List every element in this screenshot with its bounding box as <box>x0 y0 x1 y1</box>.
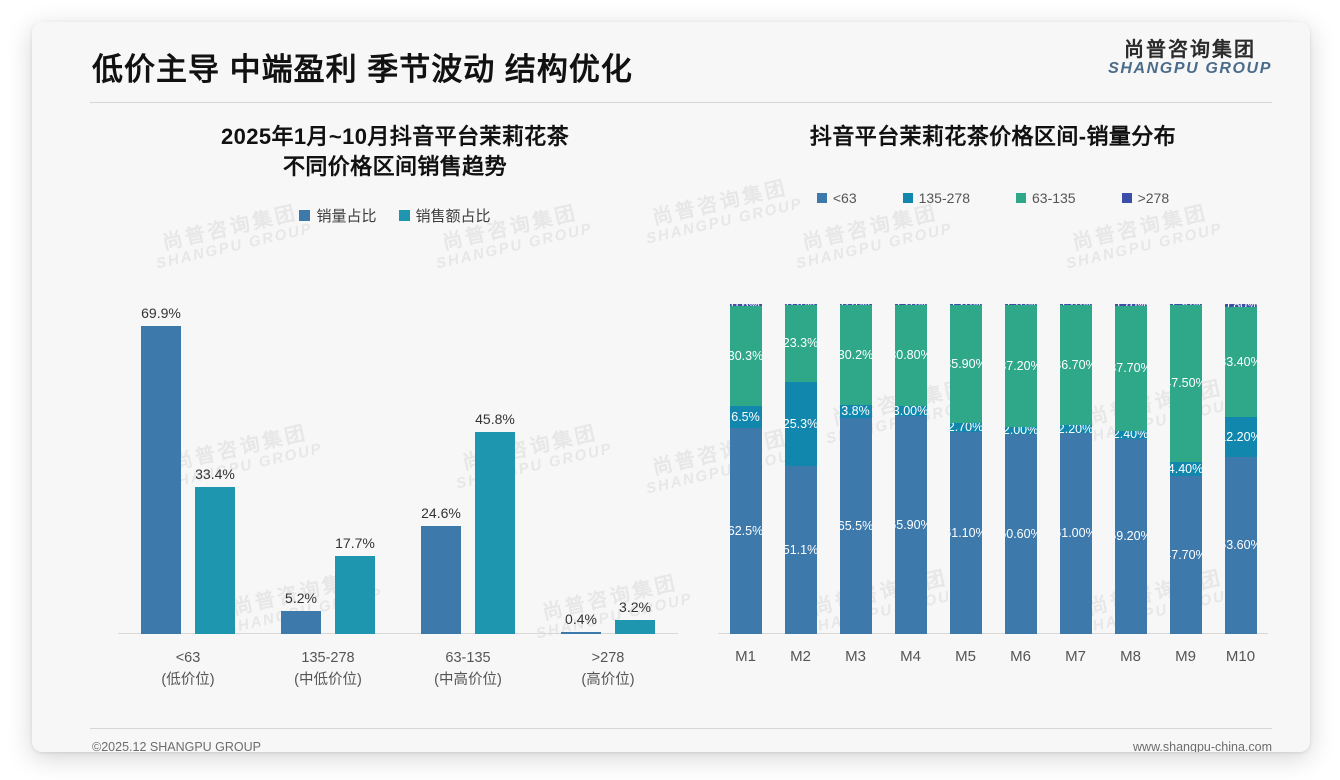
stack-segment-value-label: 30.2% <box>840 349 872 362</box>
stack-segment-clip: 65.90% <box>895 416 927 634</box>
stack-segment-value-label: 65.90% <box>895 519 927 532</box>
bar-group->278: 0.4%3.2% <box>538 304 678 634</box>
slide-card: 低价主导 中端盈利 季节波动 结构优化 尚普咨询集团 SHANGPU GROUP… <box>32 22 1310 752</box>
stack-segment-M3-135-278[interactable]: 3.8% <box>840 405 872 418</box>
x-axis-label-M7: M7 <box>1053 648 1099 665</box>
stack-segment-clip: 4.40% <box>1170 462 1202 477</box>
stack-segment-clip: 30.2% <box>840 305 872 405</box>
stack-segment-M3-<63[interactable]: 65.5% <box>840 418 872 634</box>
stack-segment-M4-63-135[interactable]: 30.80% <box>895 305 927 407</box>
stack-segment-clip: 60.60% <box>1005 434 1037 634</box>
stack-segment-value-label: 0.80% <box>1225 304 1257 307</box>
stack-segment-clip: 3.00% <box>895 406 927 416</box>
legend-label: 销售额占比 <box>416 205 491 226</box>
stack-segment-clip: 62.5% <box>730 428 762 634</box>
stack-segment-clip: 51.1% <box>785 466 817 634</box>
bar-fill <box>335 556 375 634</box>
bar-<63-销量占比[interactable]: 69.9% <box>141 326 181 634</box>
bar-value-label: 45.8% <box>475 411 515 427</box>
logo-chinese-text: 尚普咨询集团 <box>1108 40 1272 61</box>
stack-segment-value-label: 23.3% <box>785 337 817 350</box>
x-axis-label-63-135: 63-135(中高价位) <box>398 648 538 692</box>
stack-segment-M1-<63[interactable]: 62.5% <box>730 428 762 634</box>
legend-swatch-icon <box>1016 193 1026 203</box>
x-axis-label-main: <63 <box>118 648 258 670</box>
stack-segment-clip: 37.20% <box>1005 304 1037 427</box>
stack-segment-M5-63-135[interactable]: 35.90% <box>950 305 982 424</box>
logo-english-text: SHANGPU GROUP <box>1108 61 1272 78</box>
stack-segment-clip: 65.5% <box>840 418 872 634</box>
x-axis-label-M3: M3 <box>833 648 879 665</box>
stack-segment-clip: 2.70% <box>950 423 982 432</box>
stack-segment-M7-135-278[interactable]: 2.20% <box>1060 425 1092 432</box>
chart-legend-left: 销量占比销售额占比 <box>90 205 700 226</box>
footer-copyright: ©2025.12 SHANGPU GROUP <box>92 740 261 752</box>
legend-label: <63 <box>833 190 857 206</box>
plot-area-left: 69.9%33.4%5.2%17.7%24.6%45.8%0.4%3.2% <box>118 304 678 634</box>
stack-segment-M8-<63[interactable]: 59.20% <box>1115 439 1147 634</box>
stack-segment-M5-135-278[interactable]: 2.70% <box>950 423 982 432</box>
x-axis-label-M2: M2 <box>778 648 824 665</box>
stack-segment-clip: 30.80% <box>895 305 927 407</box>
stack-segment-clip: 12.20% <box>1225 417 1257 457</box>
stack-segment-value-label: 0.20% <box>895 304 927 305</box>
stack-segment-value-label: 3.00% <box>895 406 927 416</box>
chart-title-right: 抖音平台茉莉花茶价格区间-销量分布 <box>708 122 1278 152</box>
legend-label: 135-278 <box>919 190 970 206</box>
stack-segment-M4->278[interactable]: 0.20% <box>895 304 927 305</box>
chart-title-left-line2: 不同价格区间销售趋势 <box>90 152 700 182</box>
legend-item->278[interactable]: >278 <box>1122 190 1170 206</box>
stack-segment-value-label: 30.3% <box>730 350 762 363</box>
x-axis-label-M6: M6 <box>998 648 1044 665</box>
bar-fill <box>281 611 321 634</box>
stack-segment-M10->278[interactable]: 0.80% <box>1225 304 1257 307</box>
stack-segment-M8->278[interactable]: 0.70% <box>1115 304 1147 306</box>
bar-value-label: 17.7% <box>335 535 375 551</box>
x-axis-label-M10: M10 <box>1218 648 1264 665</box>
stack-segment-M8-63-135[interactable]: 37.70% <box>1115 306 1147 430</box>
legend-label: >278 <box>1138 190 1170 206</box>
stack-segment-M10-135-278[interactable]: 12.20% <box>1225 417 1257 457</box>
stacked-bar-M3[interactable]: 65.5%3.8%30.2%0.4% <box>840 304 872 634</box>
bar-135-278-销量占比[interactable]: 5.2% <box>281 611 321 634</box>
bar-fill <box>475 432 515 634</box>
stack-segment-value-label: 65.5% <box>840 520 872 533</box>
stacked-bar-M2[interactable]: 51.1%25.3%23.3%0.4% <box>785 304 817 634</box>
stack-segment-M9-<63[interactable]: 47.70% <box>1170 476 1202 634</box>
x-axis-label-main: 135-278 <box>258 648 398 670</box>
stack-segment-M9-63-135[interactable]: 47.50% <box>1170 305 1202 462</box>
stack-segment-value-label: 33.40% <box>1225 356 1257 369</box>
bar-value-label: 5.2% <box>285 590 317 606</box>
stack-segment-M4-135-278[interactable]: 3.00% <box>895 406 927 416</box>
stack-segment-clip: 0.70% <box>1115 304 1147 306</box>
chart-panel-volume-distribution: 抖音平台茉莉花茶价格区间-销量分布 <63135-27863-135>278 6… <box>708 122 1278 702</box>
bar-fill <box>421 526 461 634</box>
bar-fill <box>195 487 235 634</box>
page-title: 低价主导 中端盈利 季节波动 结构优化 <box>92 44 633 89</box>
bar-fill <box>615 620 655 634</box>
stack-segment-clip: 61.00% <box>1060 433 1092 634</box>
stack-segment-value-label: 61.10% <box>950 527 982 540</box>
stack-segment-clip: 33.40% <box>1225 307 1257 417</box>
stack-segment-value-label: 12.20% <box>1225 431 1257 444</box>
stack-segment-clip: 0.6% <box>730 304 762 306</box>
stacked-bar-M4[interactable]: 65.90%3.00%30.80%0.20% <box>895 304 927 634</box>
bar-<63-销售额占比[interactable]: 33.4% <box>195 487 235 634</box>
stack-segment-value-label: 51.1% <box>785 544 817 557</box>
legend-label: 63-135 <box>1032 190 1076 206</box>
stacked-bar-M6[interactable]: 60.60%2.00%37.20%0.10% <box>1005 304 1037 634</box>
bar-value-label: 24.6% <box>421 505 461 521</box>
bar-value-label: 0.4% <box>565 611 597 627</box>
stack-segment-clip: 37.70% <box>1115 306 1147 430</box>
x-axis-label-M8: M8 <box>1108 648 1154 665</box>
stack-segment-M7-<63[interactable]: 61.00% <box>1060 433 1092 634</box>
x-axis-label-M9: M9 <box>1163 648 1209 665</box>
stack-segment-M5-<63[interactable]: 61.10% <box>950 432 982 634</box>
bar-63-135-销售额占比[interactable]: 45.8% <box>475 432 515 634</box>
stack-segment-M2->278[interactable]: 0.4% <box>785 304 817 305</box>
stack-segment-M4-<63[interactable]: 65.90% <box>895 416 927 634</box>
stack-segment-clip: 0.4% <box>840 304 872 305</box>
legend-item-135-278[interactable]: 135-278 <box>903 190 970 206</box>
bar-value-label: 33.4% <box>195 466 235 482</box>
stack-segment-M1-63-135[interactable]: 30.3% <box>730 306 762 406</box>
stack-segment-value-label: 0.4% <box>841 304 870 305</box>
stack-segment-value-label: 62.5% <box>730 525 762 538</box>
stack-segment-value-label: 4.40% <box>1170 463 1202 476</box>
stack-segment-value-label: 53.60% <box>1225 539 1257 552</box>
stack-segment-M9->278[interactable]: 0.30% <box>1170 304 1202 305</box>
bar-63-135-销量占比[interactable]: 24.6% <box>421 526 461 634</box>
x-axis-label-M1: M1 <box>723 648 769 665</box>
stack-segment-M5->278[interactable]: 0.20% <box>950 304 982 305</box>
stacked-bar-M9[interactable]: 47.70%4.40%47.50%0.30% <box>1170 304 1202 634</box>
stack-segment-value-label: 2.40% <box>1115 431 1147 439</box>
stack-segment-value-label: 61.00% <box>1060 527 1092 540</box>
stack-segment-value-label: 0.70% <box>1115 304 1147 306</box>
stack-segment-value-label: 0.4% <box>786 304 815 305</box>
chart-legend-right: <63135-27863-135>278 <box>708 190 1278 206</box>
stack-segment-value-label: 47.70% <box>1170 549 1202 562</box>
x-axis-label-sub: (低价位) <box>118 670 258 692</box>
stack-segment-value-label: 37.70% <box>1115 362 1147 375</box>
stack-segment-M7-63-135[interactable]: 36.70% <box>1060 304 1092 425</box>
legend-item-销量占比[interactable]: 销量占比 <box>299 205 376 226</box>
stack-segment-value-label: 0.30% <box>1170 304 1202 305</box>
stack-segment-value-label: 6.5% <box>731 411 760 424</box>
slide-header: 低价主导 中端盈利 季节波动 结构优化 尚普咨询集团 SHANGPU GROUP <box>32 22 1310 108</box>
legend-item-销售额占比[interactable]: 销售额占比 <box>399 205 491 226</box>
chart-title-left-line1: 2025年1月~10月抖音平台茉莉花茶 <box>90 122 700 152</box>
stack-segment-clip: 6.5% <box>730 406 762 427</box>
stack-segment-M2-<63[interactable]: 51.1% <box>785 466 817 634</box>
stack-segment-M9-135-278[interactable]: 4.40% <box>1170 462 1202 477</box>
stack-segment-value-label: 60.60% <box>1005 528 1037 541</box>
header-divider <box>90 102 1272 103</box>
x-axis-label-main: 63-135 <box>398 648 538 670</box>
stack-segment-M2-135-278[interactable]: 25.3% <box>785 382 817 465</box>
x-axis-label-135-278: 135-278(中低价位) <box>258 648 398 692</box>
x-axis-label-sub: (高价位) <box>538 670 678 692</box>
stack-segment-clip: 47.70% <box>1170 476 1202 634</box>
legend-swatch-icon <box>903 193 913 203</box>
bar-value-label: 69.9% <box>141 305 181 321</box>
legend-swatch-icon <box>817 193 827 203</box>
stack-segment-value-label: 35.90% <box>950 358 982 371</box>
stack-segment-value-label: 25.3% <box>785 418 817 431</box>
legend-swatch-icon <box>399 210 410 221</box>
stack-segment-value-label: 0.6% <box>731 304 760 306</box>
x-axis-label-<63: <63(低价位) <box>118 648 258 692</box>
stack-segment-M6-<63[interactable]: 60.60% <box>1005 434 1037 634</box>
brand-logo: 尚普咨询集团 SHANGPU GROUP <box>1108 40 1272 78</box>
x-axis-label->278: >278(高价位) <box>538 648 678 692</box>
footer-divider <box>90 728 1272 729</box>
chart-panel-sales-trend: 2025年1月~10月抖音平台茉莉花茶 不同价格区间销售趋势 销量占比销售额占比… <box>90 122 700 702</box>
stack-segment-clip: 2.00% <box>1005 427 1037 434</box>
stack-segment-value-label: 2.70% <box>950 423 982 432</box>
stacked-bar-M8[interactable]: 59.20%2.40%37.70%0.70% <box>1115 304 1147 634</box>
footer-website: www.shangpu-china.com <box>1133 740 1272 752</box>
stack-segment-value-label: 30.80% <box>895 349 927 362</box>
x-axis-label-main: >278 <box>538 648 678 670</box>
stack-segment-clip: 35.90% <box>950 305 982 424</box>
legend-swatch-icon <box>1122 193 1132 203</box>
stacked-bar-M7[interactable]: 61.00%2.20%36.70%0.10% <box>1060 304 1092 634</box>
legend-item-<63[interactable]: <63 <box>817 190 857 206</box>
x-axis-label-M5: M5 <box>943 648 989 665</box>
stack-segment-clip: 23.3% <box>785 305 817 382</box>
stack-segment-clip: 0.4% <box>785 304 817 305</box>
stack-segment-clip: 3.8% <box>840 405 872 418</box>
bar-group-<63: 69.9%33.4% <box>118 304 258 634</box>
stack-segment-clip: 59.20% <box>1115 439 1147 634</box>
stack-segment-M6-135-278[interactable]: 2.00% <box>1005 427 1037 434</box>
stack-segment-clip: 25.3% <box>785 382 817 465</box>
stack-segment-clip: 2.40% <box>1115 431 1147 439</box>
bar-fill <box>141 326 181 634</box>
stack-segment-M6-63-135[interactable]: 37.20% <box>1005 304 1037 427</box>
stack-segment-clip: 36.70% <box>1060 304 1092 425</box>
stack-segment-value-label: 36.70% <box>1060 359 1092 372</box>
stack-segment-M10-63-135[interactable]: 33.40% <box>1225 307 1257 417</box>
stack-segment-value-label: 59.20% <box>1115 530 1147 543</box>
stack-segment-value-label: 2.00% <box>1005 427 1037 434</box>
stack-segment-M3-63-135[interactable]: 30.2% <box>840 305 872 405</box>
legend-swatch-icon <box>299 210 310 221</box>
stack-segment-value-label: 2.20% <box>1060 425 1092 432</box>
stack-segment-value-label: 47.50% <box>1170 377 1202 390</box>
stack-segment-M3->278[interactable]: 0.4% <box>840 304 872 305</box>
x-axis-label-M4: M4 <box>888 648 934 665</box>
x-axis-labels-left: <63(低价位)135-278(中低价位)63-135(中高价位)>278(高价… <box>118 642 678 698</box>
stack-segment-clip: 0.20% <box>950 304 982 305</box>
stack-segment-M1->278[interactable]: 0.6% <box>730 304 762 306</box>
stack-segment-value-label: 0.20% <box>950 304 982 305</box>
stack-segment-M2-63-135[interactable]: 23.3% <box>785 305 817 382</box>
bar-group-135-278: 5.2%17.7% <box>258 304 398 634</box>
stacked-bar-M10[interactable]: 53.60%12.20%33.40%0.80% <box>1225 304 1257 634</box>
stack-segment-clip: 61.10% <box>950 432 982 634</box>
bar-group-63-135: 24.6%45.8% <box>398 304 538 634</box>
bar->278-销售额占比[interactable]: 3.2% <box>615 620 655 634</box>
stack-segment-clip: 0.30% <box>1170 304 1202 305</box>
chart-title-left: 2025年1月~10月抖音平台茉莉花茶 不同价格区间销售趋势 <box>90 122 700 183</box>
plot-area-right: 62.5%6.5%30.3%0.6%51.1%25.3%23.3%0.4%65.… <box>718 304 1268 634</box>
stack-segment-value-label: 3.8% <box>841 405 870 418</box>
stack-segment-clip: 2.20% <box>1060 425 1092 432</box>
stacked-bar-M1[interactable]: 62.5%6.5%30.3%0.6% <box>730 304 762 634</box>
bar->278-销量占比[interactable]: 0.4% <box>561 632 601 634</box>
x-axis-label-sub: (中高价位) <box>398 670 538 692</box>
stack-segment-clip: 0.20% <box>895 304 927 305</box>
stack-segment-M8-135-278[interactable]: 2.40% <box>1115 431 1147 439</box>
stack-segment-M10-<63[interactable]: 53.60% <box>1225 457 1257 634</box>
bar-135-278-销售额占比[interactable]: 17.7% <box>335 556 375 634</box>
x-axis-label-sub: (中低价位) <box>258 670 398 692</box>
stack-segment-clip: 53.60% <box>1225 457 1257 634</box>
legend-item-63-135[interactable]: 63-135 <box>1016 190 1076 206</box>
bar-value-label: 3.2% <box>619 599 651 615</box>
x-axis-labels-right: M1M2M3M4M5M6M7M8M9M10 <box>718 642 1268 672</box>
stack-segment-M1-135-278[interactable]: 6.5% <box>730 406 762 427</box>
legend-label: 销量占比 <box>316 205 376 226</box>
bar-fill <box>561 632 601 634</box>
stack-segment-clip: 47.50% <box>1170 305 1202 462</box>
stack-segment-clip: 0.80% <box>1225 304 1257 307</box>
stack-segment-value-label: 37.20% <box>1005 360 1037 373</box>
stacked-bar-M5[interactable]: 61.10%2.70%35.90%0.20% <box>950 304 982 634</box>
stack-segment-clip: 30.3% <box>730 306 762 406</box>
